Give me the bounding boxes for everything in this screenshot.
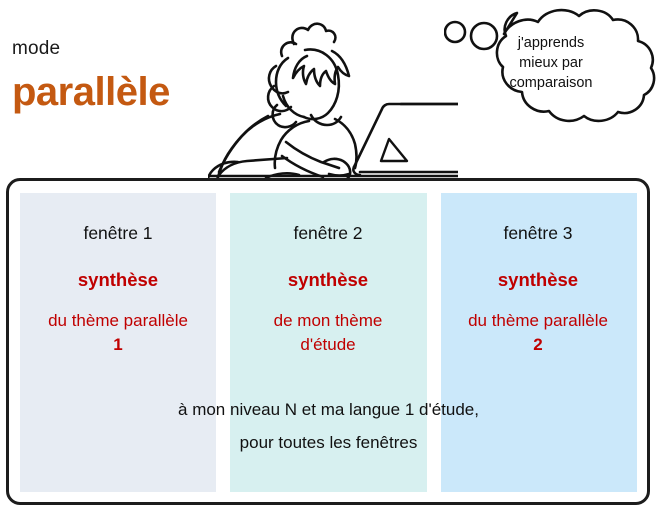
theme-description-1: du thème parallèle [48,311,188,330]
window-panel-1-text: fenêtre 1 synthèse du thème parallèle1 [20,193,216,357]
window-panel-2-text: fenêtre 2 synthèse de mon thème d'étude [230,193,426,357]
theme-text-3: du thème parallèle2 [440,309,636,357]
synthese-label-2: synthèse [230,269,426,291]
synthese-label-3: synthèse [440,269,636,291]
theme-text-1: du thème parallèle1 [20,309,216,357]
synthese-label-1: synthèse [20,269,216,291]
footer-note: à mon niveau N et ma langue 1 d'étude, p… [20,393,637,459]
window-label-3: fenêtre 3 [440,222,636,244]
window-label-2: fenêtre 2 [230,222,426,244]
theme-text-2: de mon thème d'étude [230,309,426,357]
thought-bubble-text: j'apprends mieux par comparaison [476,33,626,93]
theme-number-3: 2 [533,335,542,354]
person-studying-laptop-icon [208,4,458,178]
theme-description-3: du thème parallèle [468,311,608,330]
page-title: parallèle [12,70,170,115]
thought-bubble-small-4 [445,22,465,42]
header-area: mode parallèle [0,0,657,178]
mode-prefix-label: mode [12,38,60,60]
window-label-1: fenêtre 1 [20,222,216,244]
theme-number-1: 1 [113,335,122,354]
window-panel-3-text: fenêtre 3 synthèse du thème parallèle2 [440,193,636,357]
